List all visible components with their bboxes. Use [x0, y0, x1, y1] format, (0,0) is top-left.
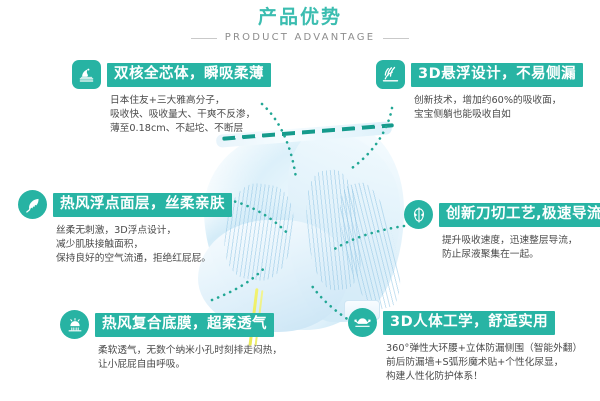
feature-title: 3D人体工学，舒适实用 — [383, 311, 555, 335]
feather-icon — [18, 190, 47, 219]
breathable-membrane-icon — [60, 310, 89, 339]
flow-direction-icon — [404, 200, 433, 229]
airflow-waves-icon — [376, 60, 405, 89]
rule-right — [383, 38, 409, 39]
absorbent-core-icon — [72, 60, 101, 89]
ergonomic-waist-icon — [348, 308, 377, 337]
feature-heading: 热风浮点面层，丝柔亲肤 — [18, 190, 232, 219]
feature-body: 创新技术，增加约60%的吸收面， 宝宝侧躺也能吸收自如 — [414, 94, 583, 122]
feature-body: 提升吸收速度，迅速整层导流， 防止尿液聚集在一起。 — [442, 234, 600, 262]
feature-body: 柔软透气，无数个纳米小孔时刻排走闷热， 让小屁屁自由呼吸。 — [98, 344, 282, 372]
feature-title: 双核全芯体，瞬吸柔薄 — [107, 63, 271, 87]
feature-heading: 双核全芯体，瞬吸柔薄 — [72, 60, 271, 89]
feature-heading: 热风复合底膜，超柔透气 — [60, 310, 282, 339]
feature-suspension-3d: 3D悬浮设计，不易侧漏 创新技术，增加约60%的吸收面， 宝宝侧躺也能吸收自如 — [376, 60, 583, 122]
page-header: 产品优势 PRODUCT ADVANTAGE — [0, 6, 600, 44]
feature-title: 热风复合底膜，超柔透气 — [95, 313, 274, 337]
feature-knife-cut: 创新刀切工艺,极速导流 提升吸收速度，迅速整层导流， 防止尿液聚集在一起。 — [404, 200, 600, 262]
feature-title: 创新刀切工艺,极速导流 — [439, 203, 600, 227]
infographic-page: 产品优势 PRODUCT ADVANTAGE — [0, 0, 600, 401]
feature-body: 360°弹性大环腰+立体防漏侧围（智能外翻） 前后防漏墙+S弧形魔术贴+个性化尿… — [386, 342, 582, 385]
feature-heading: 创新刀切工艺,极速导流 — [404, 200, 600, 229]
page-subtitle: PRODUCT ADVANTAGE — [225, 32, 376, 44]
feature-body: 日本住友+三大雅高分子， 吸收快、吸收量大、干爽不反渗， 薄至0.18cm、不起… — [110, 94, 271, 137]
feature-body: 丝柔无刺激，3D浮点设计， 减少肌肤接触面积， 保持良好的空气流通，拒绝红屁屁。 — [56, 224, 232, 267]
feature-ergonomics-3d: 3D人体工学，舒适实用 360°弹性大环腰+立体防漏侧围（智能外翻） 前后防漏墙… — [348, 308, 582, 385]
feature-heading: 3D人体工学，舒适实用 — [348, 308, 582, 337]
rule-left — [191, 38, 217, 39]
page-subtitle-row: PRODUCT ADVANTAGE — [0, 32, 600, 44]
feature-title: 3D悬浮设计，不易侧漏 — [411, 63, 583, 87]
page-title: 产品优势 — [0, 6, 600, 28]
feature-dual-core: 双核全芯体，瞬吸柔薄 日本住友+三大雅高分子， 吸收快、吸收量大、干爽不反渗， … — [72, 60, 271, 137]
feature-hot-air-surface: 热风浮点面层，丝柔亲肤 丝柔无刺激，3D浮点设计， 减少肌肤接触面积， 保持良好… — [18, 190, 232, 267]
feature-heading: 3D悬浮设计，不易侧漏 — [376, 60, 583, 89]
feature-bottom-film: 热风复合底膜，超柔透气 柔软透气，无数个纳米小孔时刻排走闷热， 让小屁屁自由呼吸… — [60, 310, 282, 372]
feature-title: 热风浮点面层，丝柔亲肤 — [53, 193, 232, 217]
